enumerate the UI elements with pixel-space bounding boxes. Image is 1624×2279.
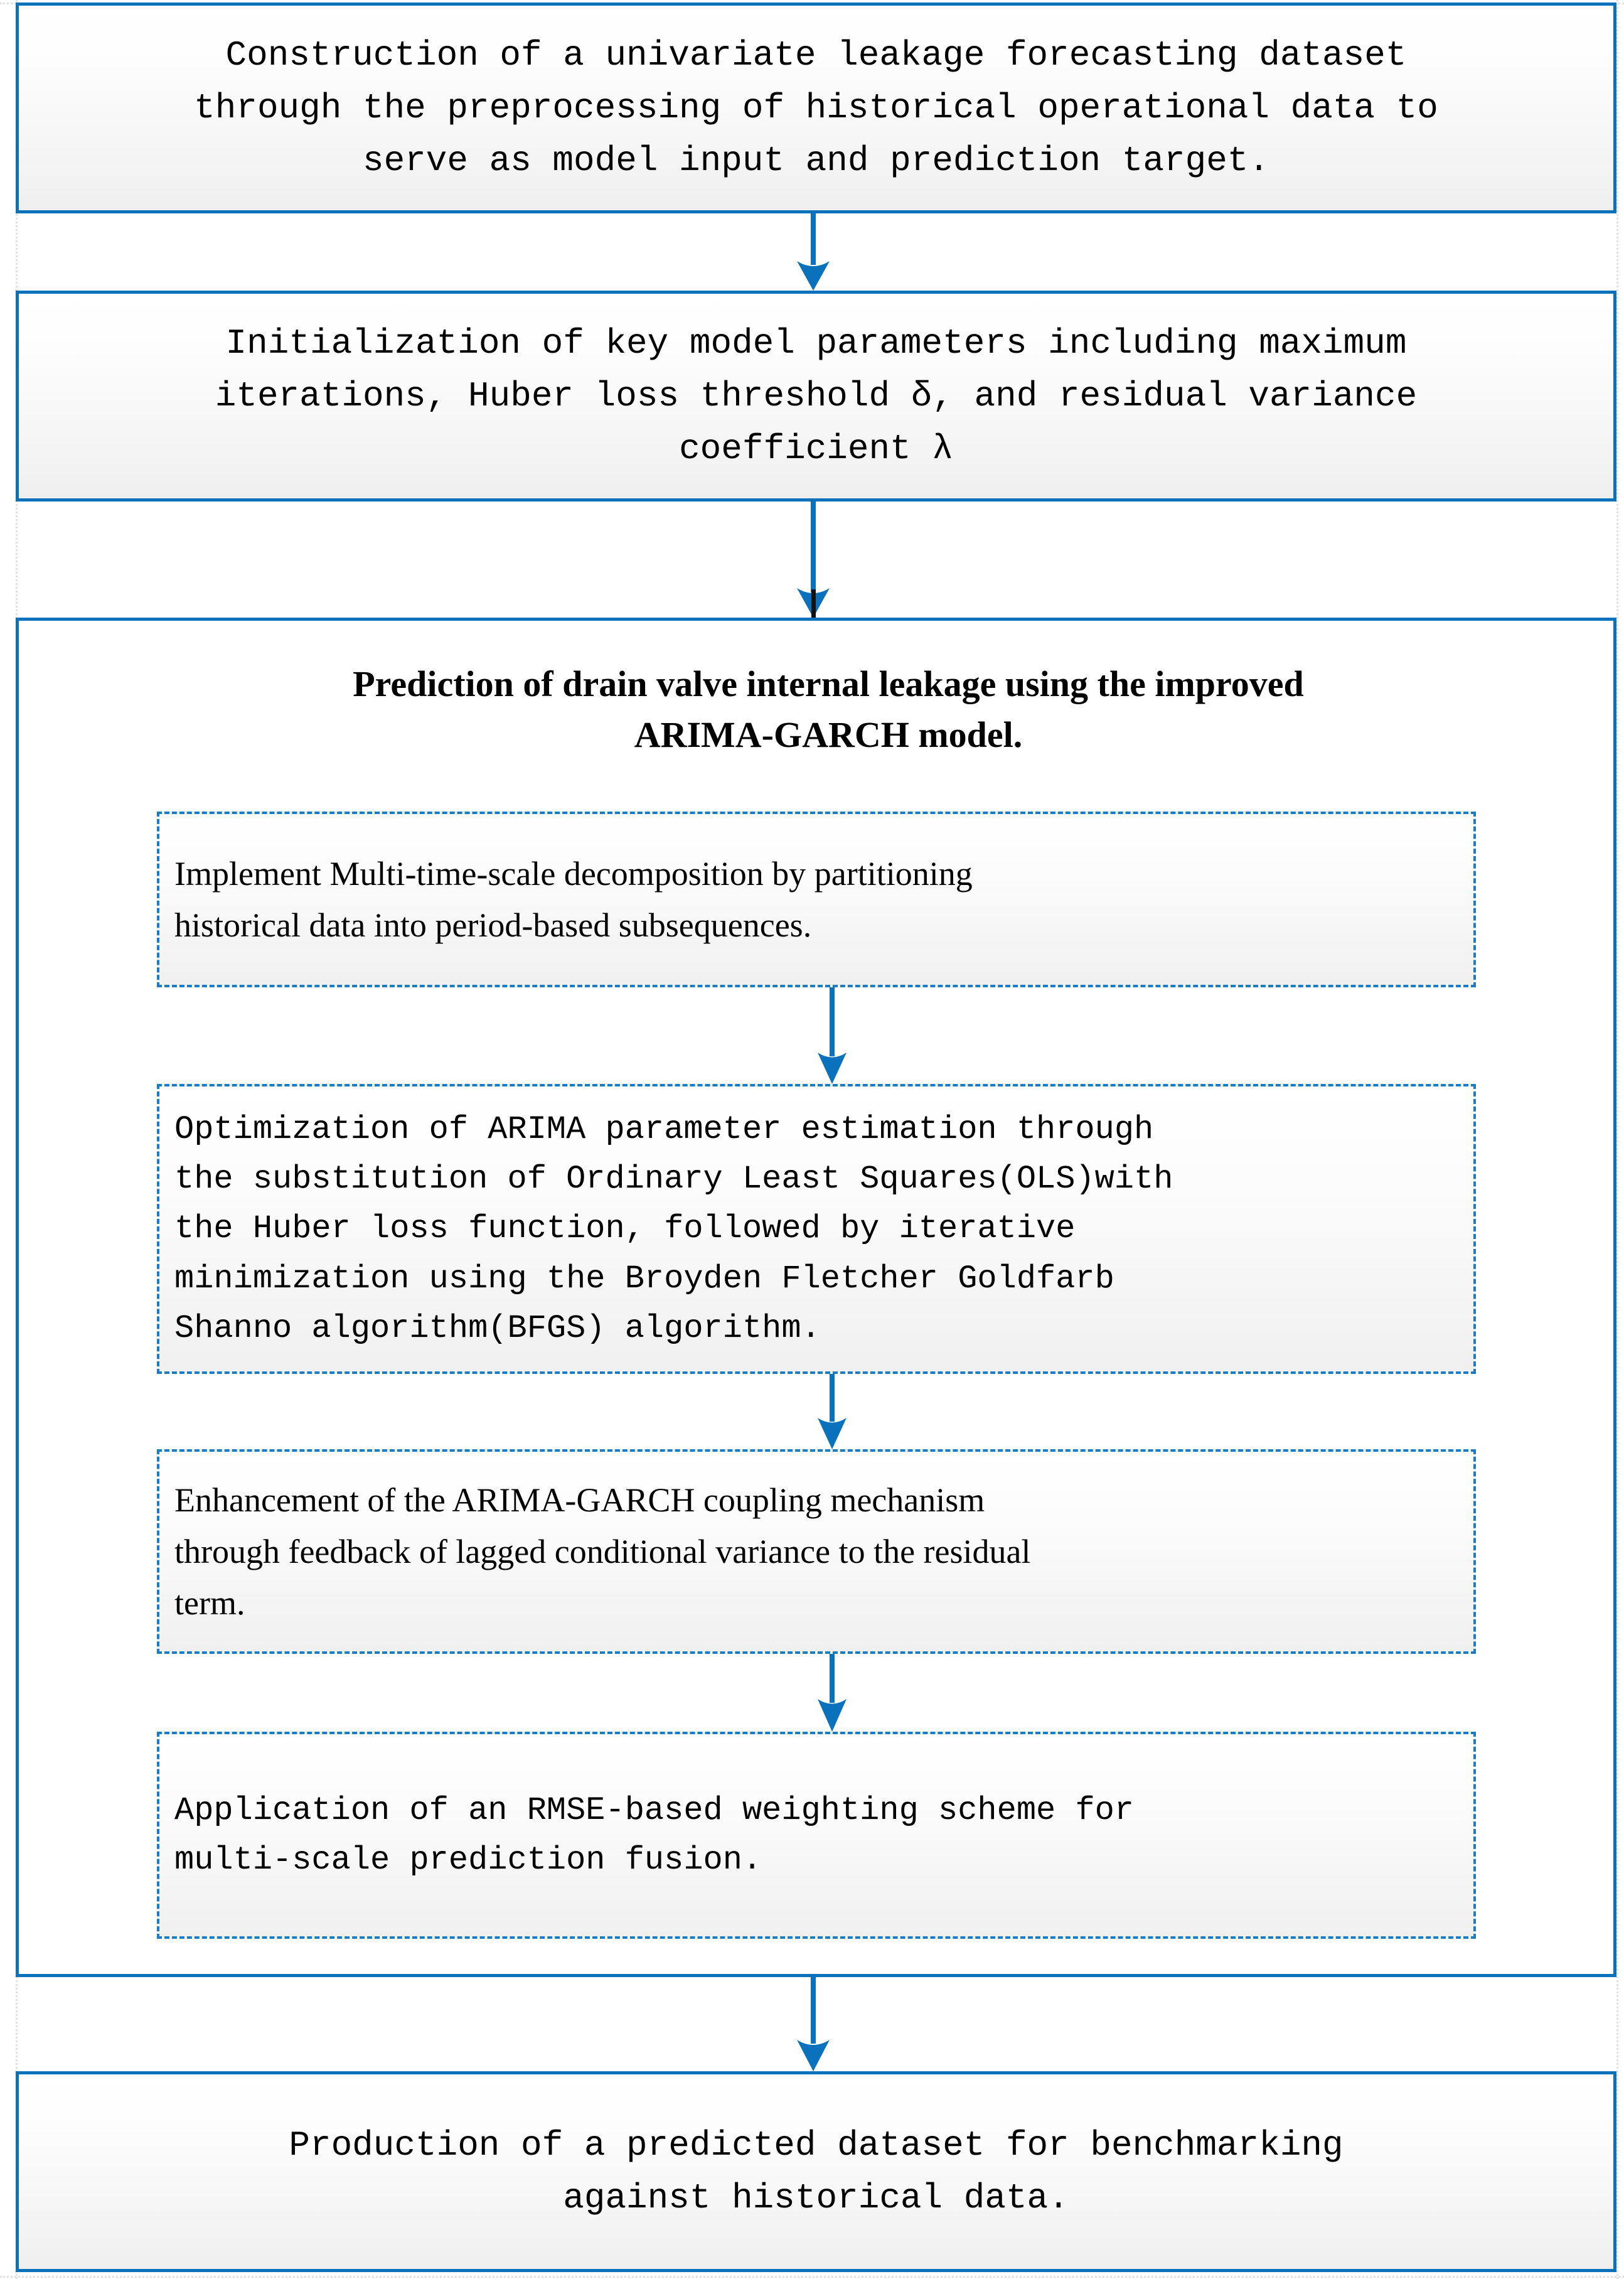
node-prediction-container[interactable]: Prediction of drain valve internal leaka…	[16, 618, 1616, 1977]
arrow-dataset-to-parameters	[796, 213, 831, 291]
arrow-decomposition-to-optimization	[817, 987, 847, 1084]
arrow-prediction-to-output	[796, 1977, 831, 2071]
subnode-rmse-weighted-fusion[interactable]: Application of an RMSE-based weighting s…	[157, 1732, 1476, 1939]
node-parameter-initialization[interactable]: Initialization of key model parameters i…	[16, 291, 1616, 501]
page-guide-right	[1616, 0, 1618, 2279]
arrow-coupling-to-fusion	[817, 1654, 847, 1732]
node-predicted-dataset-output[interactable]: Production of a predicted dataset for be…	[16, 2071, 1616, 2272]
node-parameter-initialization-label: Initialization of key model parameters i…	[19, 317, 1613, 475]
subnode-arima-huber-optimization[interactable]: Optimization of ARIMA parameter estimati…	[157, 1084, 1476, 1374]
node-dataset-construction[interactable]: Construction of a univariate leakage for…	[16, 3, 1616, 213]
subnode-arima-garch-coupling[interactable]: Enhancement of the ARIMA-GARCH coupling …	[157, 1449, 1476, 1654]
node-predicted-dataset-output-label: Production of a predicted dataset for be…	[19, 2119, 1613, 2224]
arrow-optimization-to-coupling	[817, 1374, 847, 1449]
subnode-multi-time-scale-decomposition-label: Implement Multi-time-scale decomposition…	[159, 848, 1473, 951]
node-dataset-construction-label: Construction of a univariate leakage for…	[19, 29, 1613, 187]
node-prediction-container-heading: Prediction of drain valve internal leaka…	[94, 658, 1563, 760]
page-guide-bottom	[0, 2276, 1624, 2278]
arrow-parameters-to-prediction	[796, 501, 831, 618]
subnode-arima-garch-coupling-label: Enhancement of the ARIMA-GARCH coupling …	[159, 1474, 1473, 1629]
subnode-arima-huber-optimization-label: Optimization of ARIMA parameter estimati…	[159, 1105, 1473, 1353]
subnode-rmse-weighted-fusion-label: Application of an RMSE-based weighting s…	[159, 1786, 1473, 1885]
subnode-multi-time-scale-decomposition[interactable]: Implement Multi-time-scale decomposition…	[157, 812, 1476, 987]
